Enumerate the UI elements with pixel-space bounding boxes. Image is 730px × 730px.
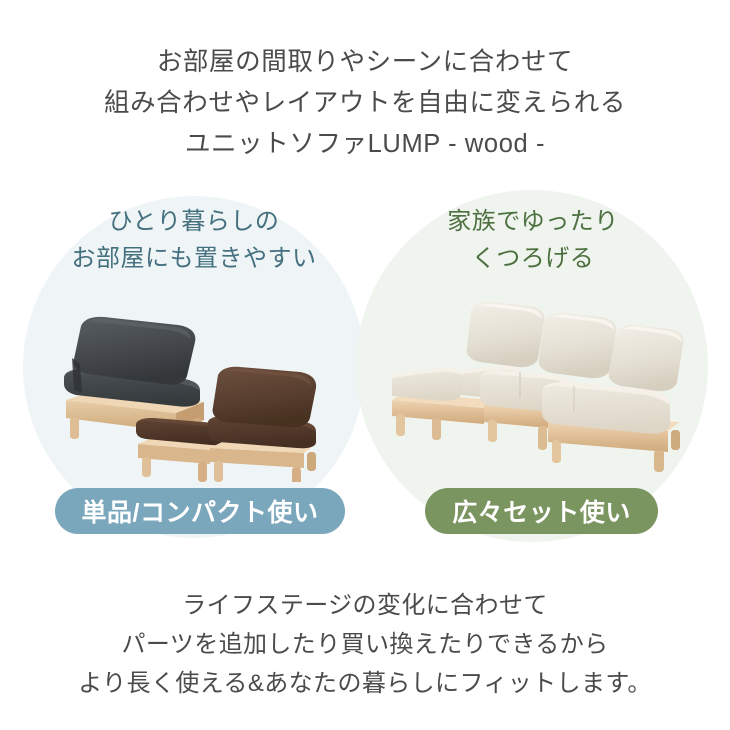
- headline-line-3: ユニットソファLUMP - wood -: [0, 124, 730, 165]
- panel-caption-set-line-2: くつろげる: [368, 240, 698, 277]
- badge-single-compact-use: 単品/コンパクト使い: [55, 488, 345, 534]
- footer-copy-line-2: パーツを追加したり買い換えたりできるから: [0, 625, 730, 664]
- badge-spacious-set-use: 広々セット使い: [425, 488, 658, 534]
- headline: お部屋の間取りやシーンに合わせて 組み合わせやレイアウトを自由に変えられる ユニ…: [0, 42, 730, 165]
- footer-copy-line-3: より長く使える&あなたの暮らしにフィットします。: [0, 664, 730, 703]
- footer-copy-line-1: ライフステージの変化に合わせて: [0, 586, 730, 625]
- panel-caption-single-line-2: お部屋にも置きやすい: [18, 240, 370, 277]
- single-use-illustration: [58, 292, 338, 482]
- promo-page: お部屋の間取りやシーンに合わせて 組み合わせやレイアウトを自由に変えられる ユニ…: [0, 0, 730, 730]
- set-use-illustration: [392, 300, 684, 472]
- panel-caption-single-line-1: ひとり暮らしの: [18, 203, 370, 240]
- panel-caption-single: ひとり暮らしの お部屋にも置きやすい: [18, 203, 370, 277]
- footer-copy: ライフステージの変化に合わせて パーツを追加したり買い換えたりできるから より長…: [0, 586, 730, 703]
- badge-single-compact-use-label: 単品/コンパクト使い: [82, 493, 319, 529]
- product-photo-single-use: [58, 292, 338, 482]
- panel-caption-set-line-1: 家族でゆったり: [368, 203, 698, 240]
- headline-line-2: 組み合わせやレイアウトを自由に変えられる: [0, 83, 730, 124]
- headline-line-1: お部屋の間取りやシーンに合わせて: [0, 42, 730, 83]
- product-photo-set-use: [392, 300, 684, 472]
- badge-spacious-set-use-label: 広々セット使い: [452, 493, 631, 529]
- panel-caption-set: 家族でゆったり くつろげる: [368, 203, 698, 277]
